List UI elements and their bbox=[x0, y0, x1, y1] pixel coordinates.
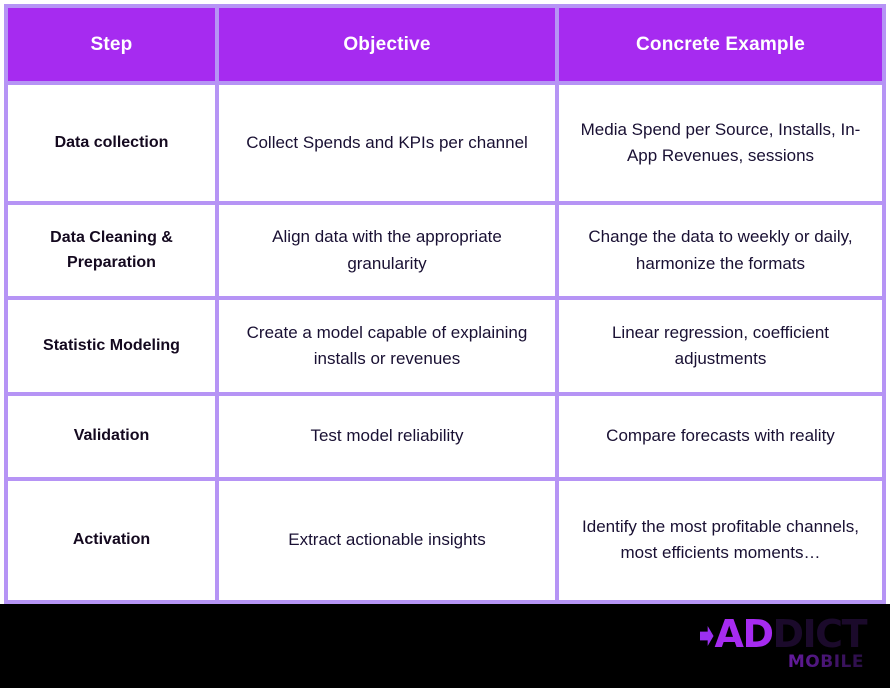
arrow-right-icon bbox=[700, 626, 714, 646]
logo-dict-text: DICT bbox=[773, 612, 867, 656]
table-container: Step Objective Concrete Example Data col… bbox=[0, 0, 890, 604]
table-row: Validation Test model reliability Compar… bbox=[4, 396, 886, 481]
logo-wordmark: ADDICT bbox=[676, 614, 866, 654]
cell-step: Validation bbox=[4, 396, 219, 481]
table-row: Data Cleaning & Preparation Align data w… bbox=[4, 205, 886, 300]
cell-step: Data collection bbox=[4, 85, 219, 205]
addict-mobile-logo: ADDICT MOBILE bbox=[676, 614, 866, 678]
table-header: Step Objective Concrete Example bbox=[4, 4, 886, 85]
cell-objective: Align data with the appropriate granular… bbox=[219, 205, 559, 300]
cell-objective: Create a model capable of explaining ins… bbox=[219, 300, 559, 395]
column-header-objective: Objective bbox=[219, 4, 559, 85]
logo-ad-text: AD bbox=[715, 612, 773, 656]
footer-band: ADDICT MOBILE bbox=[0, 604, 890, 688]
table-row: Statistic Modeling Create a model capabl… bbox=[4, 300, 886, 395]
column-header-step: Step bbox=[4, 4, 219, 85]
table-row: Data collection Collect Spends and KPIs … bbox=[4, 85, 886, 205]
cell-step: Activation bbox=[4, 481, 219, 604]
cell-example: Identify the most profitable channels, m… bbox=[559, 481, 886, 604]
cell-example: Change the data to weekly or daily, harm… bbox=[559, 205, 886, 300]
steps-table: Step Objective Concrete Example Data col… bbox=[4, 4, 886, 604]
cell-step: Data Cleaning & Preparation bbox=[4, 205, 219, 300]
table-row: Activation Extract actionable insights I… bbox=[4, 481, 886, 604]
cell-objective: Collect Spends and KPIs per channel bbox=[219, 85, 559, 205]
cell-step: Statistic Modeling bbox=[4, 300, 219, 395]
cell-example: Media Spend per Source, Installs, In-App… bbox=[559, 85, 886, 205]
cell-objective: Test model reliability bbox=[219, 396, 559, 481]
cell-example: Linear regression, coefficient adjustmen… bbox=[559, 300, 886, 395]
table-body: Data collection Collect Spends and KPIs … bbox=[4, 85, 886, 604]
cell-example: Compare forecasts with reality bbox=[559, 396, 886, 481]
table-header-row: Step Objective Concrete Example bbox=[4, 4, 886, 85]
cell-objective: Extract actionable insights bbox=[219, 481, 559, 604]
column-header-example: Concrete Example bbox=[559, 4, 886, 85]
page-root: Step Objective Concrete Example Data col… bbox=[0, 0, 890, 688]
